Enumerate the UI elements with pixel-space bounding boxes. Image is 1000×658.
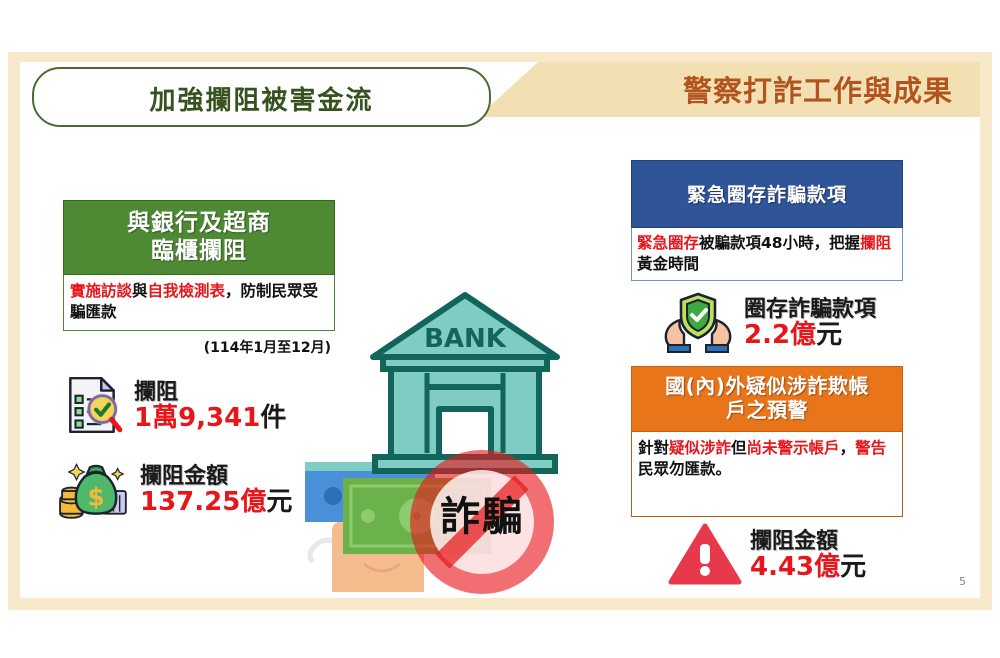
suspicious-account-alert-card: 國(內)外疑似涉詐欺帳 戶之預警 針對疑似涉詐但尚未警示帳戶，警告民眾勿匯款。: [631, 366, 903, 517]
stat-blocked-cases-unit: 件: [260, 403, 286, 433]
orange-body-seg3: 但: [731, 439, 747, 457]
slide-root: 警察打詐工作與成果 加強攔阻被害金流 與銀行及超商 臨櫃攔阻 實施訪談與自我檢測…: [0, 0, 1000, 658]
orange-body-seg7: 民眾勿匯款。: [638, 460, 731, 478]
warning-triangle-icon: [668, 522, 742, 590]
stat-blocked-amount: $ 攔阻金額 137.25億元: [58, 454, 292, 528]
green-card-title: 與銀行及超商 臨櫃攔阻: [63, 200, 335, 275]
stat-alert-blocked-amount-value: 4.43億元: [750, 553, 866, 582]
frame-border-right: [980, 52, 992, 610]
green-body-seg3: 自我檢測表: [148, 282, 226, 300]
green-card-title-line1: 與銀行及超商: [68, 209, 330, 237]
stat-blocked-cases-label: 攔阻: [134, 381, 286, 404]
orange-body-seg2: 疑似涉詐: [669, 439, 731, 457]
stat-blocked-cases-value: 1萬9,341件: [134, 404, 286, 433]
stat-alert-blocked-amount-unit: 元: [840, 552, 866, 582]
green-body-seg2: 與: [132, 282, 148, 300]
frame-border-bottom: [8, 598, 992, 610]
page-title: 加強攔阻被害金流: [34, 80, 489, 117]
stat-frozen-amount-unit: 元: [816, 320, 842, 350]
blue-body-seg2: 被騙款項48小時，把握: [699, 234, 860, 252]
stat-blocked-amount-value: 137.25億元: [140, 488, 292, 517]
stat-frozen-amount-text: 圈存詐騙款項 2.2億元: [744, 298, 876, 350]
bank-convenience-store-card: 與銀行及超商 臨櫃攔阻 實施訪談與自我檢測表，防制民眾受騙匯款 (114年1月至…: [63, 200, 335, 357]
slide-canvas: 警察打詐工作與成果 加強攔阻被害金流 與銀行及超商 臨櫃攔阻 實施訪談與自我檢測…: [20, 62, 980, 598]
stat-frozen-amount-number: 2.2億: [744, 320, 816, 350]
stat-frozen-amount: 圈存詐騙款項 2.2億元: [660, 290, 876, 358]
green-body-seg1: 實施訪談: [70, 282, 132, 300]
orange-card-title-line1: 國(內)外疑似涉詐欺帳: [635, 374, 899, 398]
orange-body-seg5: ，: [840, 439, 856, 457]
orange-card-body: 針對疑似涉詐但尚未警示帳戶，警告民眾勿匯款。: [631, 432, 903, 517]
stat-blocked-cases-text: 攔阻 1萬9,341件: [134, 381, 286, 433]
money-bag-icon: $: [58, 454, 132, 528]
stat-frozen-amount-value: 2.2億元: [744, 321, 876, 350]
stat-blocked-cases: 攔阻 1萬9,341件: [60, 372, 286, 442]
period-note: (114年1月至12月): [63, 337, 335, 357]
blue-body-seg1: 緊急圈存: [637, 234, 699, 252]
stat-blocked-amount-label: 攔阻金額: [140, 465, 292, 488]
stat-blocked-cases-number: 1萬9,341: [134, 403, 260, 433]
blue-body-seg4: 黃金時間: [637, 255, 699, 273]
stat-blocked-amount-text: 攔阻金額 137.25億元: [140, 465, 292, 517]
checklist-magnifier-icon: [60, 372, 126, 442]
prohibition-label: 詐騙: [402, 484, 562, 542]
page-number: 5: [959, 575, 966, 588]
stat-alert-blocked-amount-label: 攔阻金額: [750, 530, 866, 553]
no-fraud-prohibition-icon: 詐騙: [402, 442, 562, 598]
blue-card-title: 緊急圈存詐騙款項: [631, 160, 903, 228]
orange-body-seg1: 針對: [638, 439, 669, 457]
blue-body-seg3: 攔阻: [860, 234, 891, 252]
green-card-body: 實施訪談與自我檢測表，防制民眾受騙匯款: [63, 275, 335, 331]
orange-card-title: 國(內)外疑似涉詐欺帳 戶之預警: [631, 366, 903, 432]
orange-card-title-line2: 戶之預警: [635, 398, 899, 422]
stat-blocked-amount-number: 137.25億: [140, 487, 266, 517]
stat-alert-blocked-amount-number: 4.43億: [750, 552, 840, 582]
header-pill-left: 加強攔阻被害金流: [32, 67, 491, 127]
header-banner-right: 警察打詐工作與成果: [458, 62, 980, 117]
green-card-title-line2: 臨櫃攔阻: [68, 237, 330, 265]
frame-border-left: [8, 52, 20, 610]
header-banner-title: 警察打詐工作與成果: [638, 68, 980, 110]
bank-label: BANK: [424, 324, 507, 354]
stat-alert-blocked-amount-text: 攔阻金額 4.43億元: [750, 530, 866, 582]
svg-text:$: $: [87, 482, 104, 511]
stat-frozen-amount-label: 圈存詐騙款項: [744, 298, 876, 321]
frame-border-top: [8, 52, 992, 62]
orange-body-seg4: 尚未警示帳戶: [747, 439, 840, 457]
blue-card-body: 緊急圈存被騙款項48小時，把握攔阻黃金時間: [631, 228, 903, 281]
orange-body-seg6: 警告: [855, 439, 886, 457]
emergency-freeze-card: 緊急圈存詐騙款項 緊急圈存被騙款項48小時，把握攔阻黃金時間: [631, 160, 903, 281]
shield-hands-icon: [660, 290, 736, 358]
stat-alert-blocked-amount: 攔阻金額 4.43億元: [668, 522, 866, 590]
